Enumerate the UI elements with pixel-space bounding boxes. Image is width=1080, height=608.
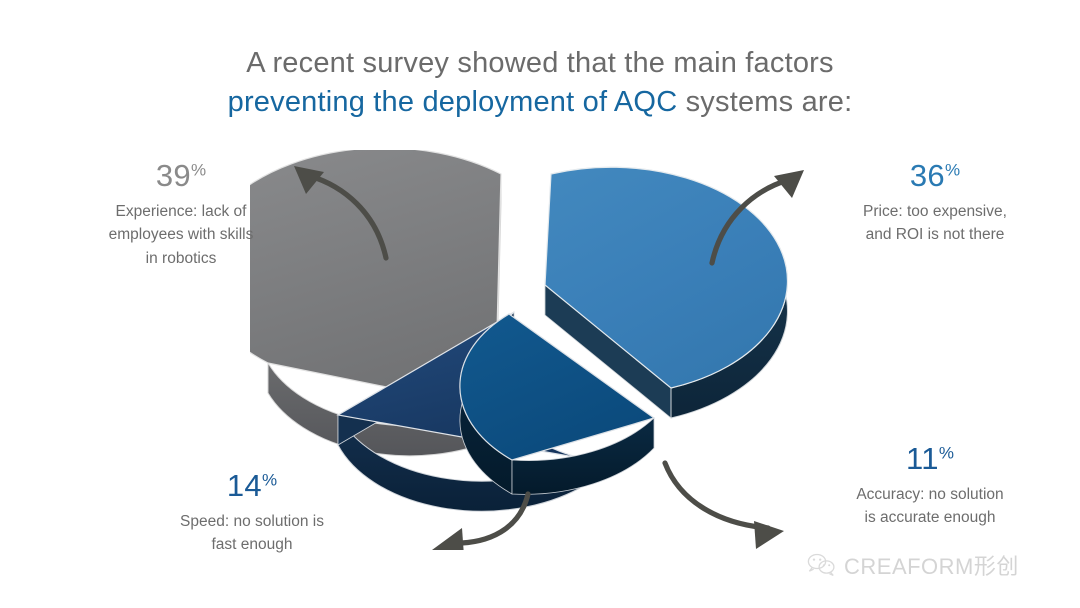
callout-speed: 14% Speed: no solution is fast enough — [112, 470, 392, 557]
callout-price: 36% Price: too expensive, and ROI is not… — [800, 160, 1070, 247]
watermark-text: CREAFORM形创 — [844, 549, 1019, 581]
watermark: CREAFORM形创 — [806, 549, 1019, 581]
arrow-speed-head — [432, 528, 464, 550]
callout-price-label: Price: too expensive, and ROI is not the… — [800, 200, 1070, 247]
title-line-1: A recent survey showed that the main fac… — [0, 44, 1080, 83]
title-line-2: preventing the deployment of AQC systems… — [0, 83, 1080, 122]
page-title: A recent survey showed that the main fac… — [0, 44, 1080, 122]
callout-price-value: 36% — [800, 160, 1070, 193]
callout-accuracy: 11% Accuracy: no solution is accurate en… — [790, 443, 1070, 530]
title-text-2: systems are: — [677, 86, 852, 118]
callout-experience: 39% Experience: lack of employees with s… — [46, 160, 316, 270]
slide-canvas: A recent survey showed that the main fac… — [0, 0, 1080, 608]
percent-symbol: % — [939, 443, 954, 462]
callout-accuracy-value: 11% — [790, 443, 1070, 476]
callout-experience-label: Experience: lack of employees with skill… — [46, 200, 316, 271]
callout-experience-value: 39% — [46, 160, 316, 193]
arrow-accuracy-head — [754, 521, 784, 549]
callout-speed-label: Speed: no solution is fast enough — [112, 510, 392, 557]
title-text-1: A recent survey showed that the main fac… — [246, 47, 833, 79]
arrow-accuracy-line — [665, 463, 768, 528]
percent-symbol: % — [945, 160, 960, 179]
percent-symbol: % — [262, 470, 277, 489]
wechat-icon — [806, 552, 836, 578]
percent-symbol: % — [191, 160, 206, 179]
title-highlight: preventing the deployment of AQC — [228, 86, 678, 118]
callout-accuracy-label: Accuracy: no solution is accurate enough — [790, 483, 1070, 530]
callout-speed-value: 14% — [112, 470, 392, 503]
